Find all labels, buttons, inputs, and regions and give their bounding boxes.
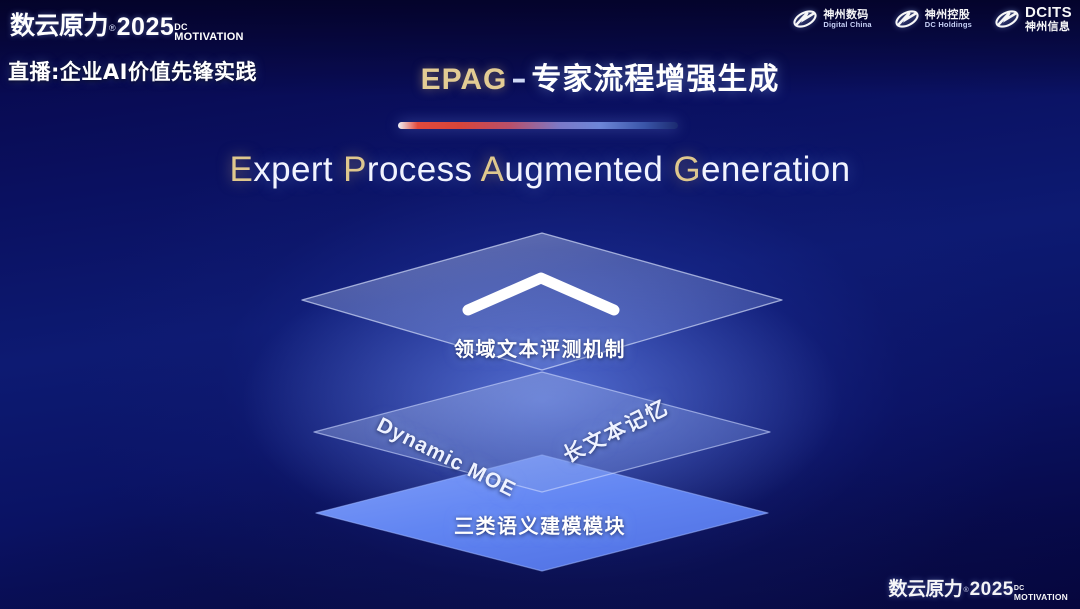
layer-label-dynamic-moe: Dynamic MOE [373,413,520,502]
registered-mark-icon: ® [109,23,116,33]
corporate-logo-group: 神州数码 Digital China 神州控股 DC Holdings DCIT… [792,5,1072,33]
english-subtitle: Expert Process Augmented Generation [0,150,1080,190]
event-logo-motivation: MOTIVATION [174,32,243,42]
gradient-divider [398,122,678,129]
corporate-logo-text: 神州数码 Digital China [823,9,871,29]
event-logo-dc-motivation: DC MOTIVATION [174,23,243,42]
title-chinese: 专家流程增强生成 [531,62,779,97]
corporate-logo-dc-holdings: 神州控股 DC Holdings [894,8,972,30]
acronym-letter-g: G [673,150,701,189]
corporate-logo-text: 神州控股 DC Holdings [925,9,972,29]
english-word-augmented: Augmented [481,150,664,189]
event-logo-chinese: 数云原力 [10,6,108,42]
watermark-year: 2025 [970,579,1014,601]
title-acronym: EPAG [421,63,508,96]
corporate-logo-digital-china: 神州数码 Digital China [792,8,871,30]
watermark-logo: 数云原力 ® 2025 DC MOTIVATION [888,574,1068,601]
page-title: EPAG–专家流程增强生成 [0,54,1080,98]
presentation-slide: 数云原力 ® 2025 DC MOTIVATION 直播:企业AI价值先锋实践 … [0,0,1080,609]
event-logo-year: 2025 [117,13,175,42]
watermark-dc-motivation: DC MOTIVATION [1014,586,1068,601]
layer-label-bottom: 三类语义建模模块 [0,510,1080,539]
corporate-name-en: DC Holdings [925,21,972,29]
chevron-up-icon [468,278,614,310]
watermark-chinese: 数云原力 [888,574,962,601]
english-word-rest: xpert [253,150,333,189]
corporate-logo-dcits: DCITS 神州信息 [994,5,1072,33]
corporate-brand-dcits: DCITS [1025,5,1072,21]
english-word-rest: ugmented [504,150,663,189]
english-word-rest: rocess [367,150,473,189]
english-word-rest: eneration [701,150,851,189]
english-word-process: Process [343,150,472,189]
registered-mark-icon: ® [963,587,968,594]
swirl-icon [894,8,920,30]
acronym-letter-a: A [481,150,505,189]
layer-label-top: 领域文本评测机制 [0,333,1080,362]
english-word-expert: Expert [229,150,333,189]
acronym-letter-e: E [229,150,253,189]
title-dash: – [511,62,527,97]
swirl-icon [994,8,1020,30]
corporate-logo-text: DCITS 神州信息 [1025,5,1072,33]
layer-label-long-memory: 长文本记忆 [557,391,673,469]
watermark-motivation: MOTIVATION [1014,593,1068,601]
english-word-generation: Generation [673,150,850,189]
corporate-name-cn: 神州信息 [1025,21,1072,33]
swirl-icon [792,8,818,30]
diagram-glow [242,250,842,550]
event-logo: 数云原力 ® 2025 DC MOTIVATION [10,6,244,42]
corporate-name-en: Digital China [823,21,871,29]
acronym-letter-p: P [343,150,367,189]
